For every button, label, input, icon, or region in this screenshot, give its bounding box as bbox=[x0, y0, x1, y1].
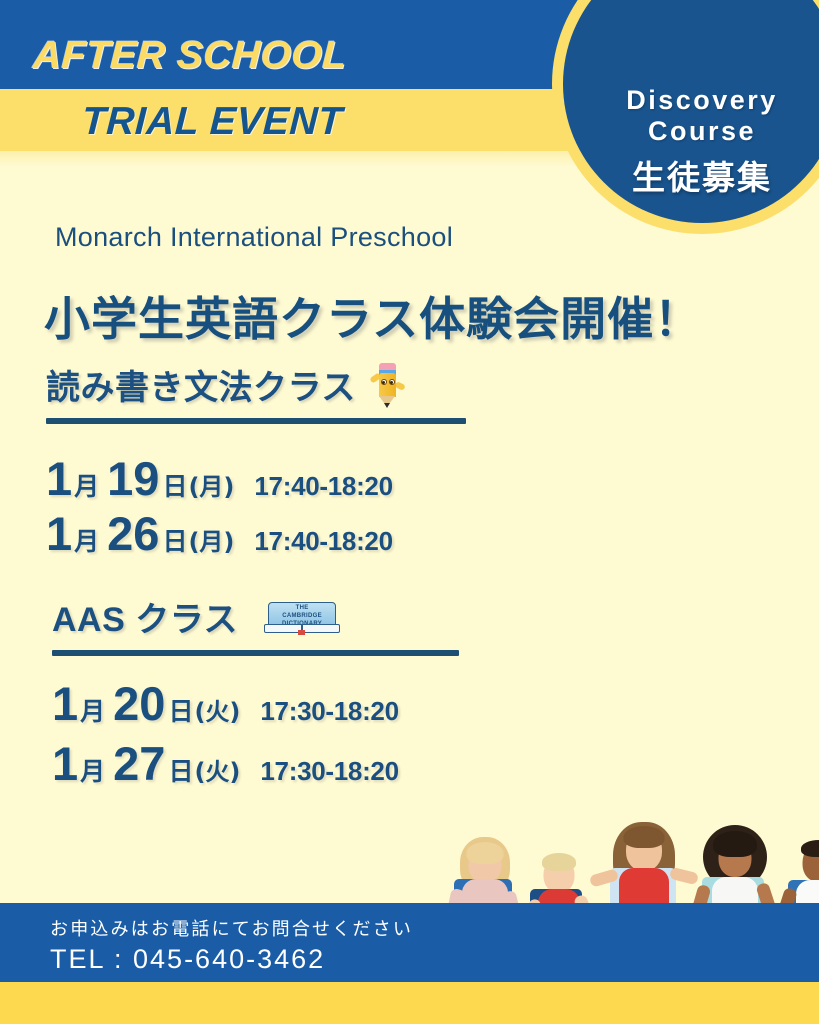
session-day: 27 bbox=[113, 740, 165, 787]
session-day-unit: 日 bbox=[162, 467, 187, 503]
session-time: 17:40-18:20 bbox=[254, 471, 392, 502]
session-weekday: (月) bbox=[188, 522, 234, 557]
session-time: 17:30-18:20 bbox=[260, 756, 398, 787]
page-title: 小学生英語クラス体験会開催！ bbox=[44, 283, 701, 349]
badge-text-group: Discovery Course 生徒募集 bbox=[563, 0, 819, 223]
session-row: 1 月 27 日 (火) 17:30-18:20 bbox=[52, 740, 399, 788]
session-month-unit: 月 bbox=[80, 692, 105, 728]
badge-line-course: Course bbox=[648, 116, 756, 147]
session-day: 19 bbox=[107, 455, 159, 502]
session-row: 1 月 20 日 (火) 17:30-18:20 bbox=[52, 680, 399, 728]
session-row: 1 月 19 日 (月) 17:40-18:20 bbox=[46, 455, 393, 503]
session-month-unit: 月 bbox=[80, 752, 105, 788]
header-title-trial-event: TRIAL EVENT bbox=[81, 100, 344, 144]
dictionary-book-icon: THE CAMBRIDGE DICTIONARY bbox=[264, 600, 340, 634]
session-weekday: (月) bbox=[188, 467, 234, 502]
class-title-writing: 読み書き文法クラス bbox=[46, 360, 356, 409]
pencil-mascot-icon bbox=[370, 361, 404, 409]
session-month: 1 bbox=[52, 680, 78, 727]
school-name: Monarch International Preschool bbox=[55, 222, 453, 253]
class-divider-writing bbox=[46, 418, 466, 424]
session-day-unit: 日 bbox=[168, 752, 193, 788]
session-weekday: (火) bbox=[194, 692, 240, 727]
session-time: 17:40-18:20 bbox=[254, 526, 392, 557]
class-header-writing: 読み書き文法クラス bbox=[46, 360, 466, 409]
session-day-unit: 日 bbox=[162, 522, 187, 558]
badge-line-discovery: Discovery bbox=[626, 85, 778, 116]
header-title-after-school: AFTER SCHOOL bbox=[32, 34, 348, 78]
footer-yellow-strip bbox=[0, 982, 819, 1024]
class-title-aas: AAS クラス bbox=[52, 592, 238, 641]
dict-icon-line2: CAMBRIDGE bbox=[270, 612, 334, 620]
session-month: 1 bbox=[46, 455, 72, 502]
poster-canvas: AFTER SCHOOL TRIAL EVENT Discovery Cours… bbox=[0, 0, 819, 1024]
session-row: 1 月 26 日 (月) 17:40-18:20 bbox=[46, 510, 393, 558]
session-day: 26 bbox=[107, 510, 159, 557]
session-weekday: (火) bbox=[194, 752, 240, 787]
session-month-unit: 月 bbox=[74, 467, 99, 503]
session-month: 1 bbox=[52, 740, 78, 787]
class-divider-aas bbox=[52, 650, 459, 656]
session-day: 20 bbox=[113, 680, 165, 727]
session-month: 1 bbox=[46, 510, 72, 557]
class-section-aas: AAS クラス THE CAMBRIDGE DICTIONARY bbox=[52, 592, 459, 656]
footer-contact-note: お申込みはお電話にてお問合せください bbox=[50, 915, 413, 941]
dict-icon-line1: THE bbox=[270, 604, 334, 612]
class-section-writing: 読み書き文法クラス bbox=[46, 360, 466, 424]
session-month-unit: 月 bbox=[74, 522, 99, 558]
class-header-aas: AAS クラス THE CAMBRIDGE DICTIONARY bbox=[52, 592, 459, 641]
badge-line-recruiting: 生徒募集 bbox=[632, 151, 772, 199]
session-time: 17:30-18:20 bbox=[260, 696, 398, 727]
footer-telephone[interactable]: TEL : 045-640-3462 bbox=[50, 944, 325, 975]
session-day-unit: 日 bbox=[168, 692, 193, 728]
